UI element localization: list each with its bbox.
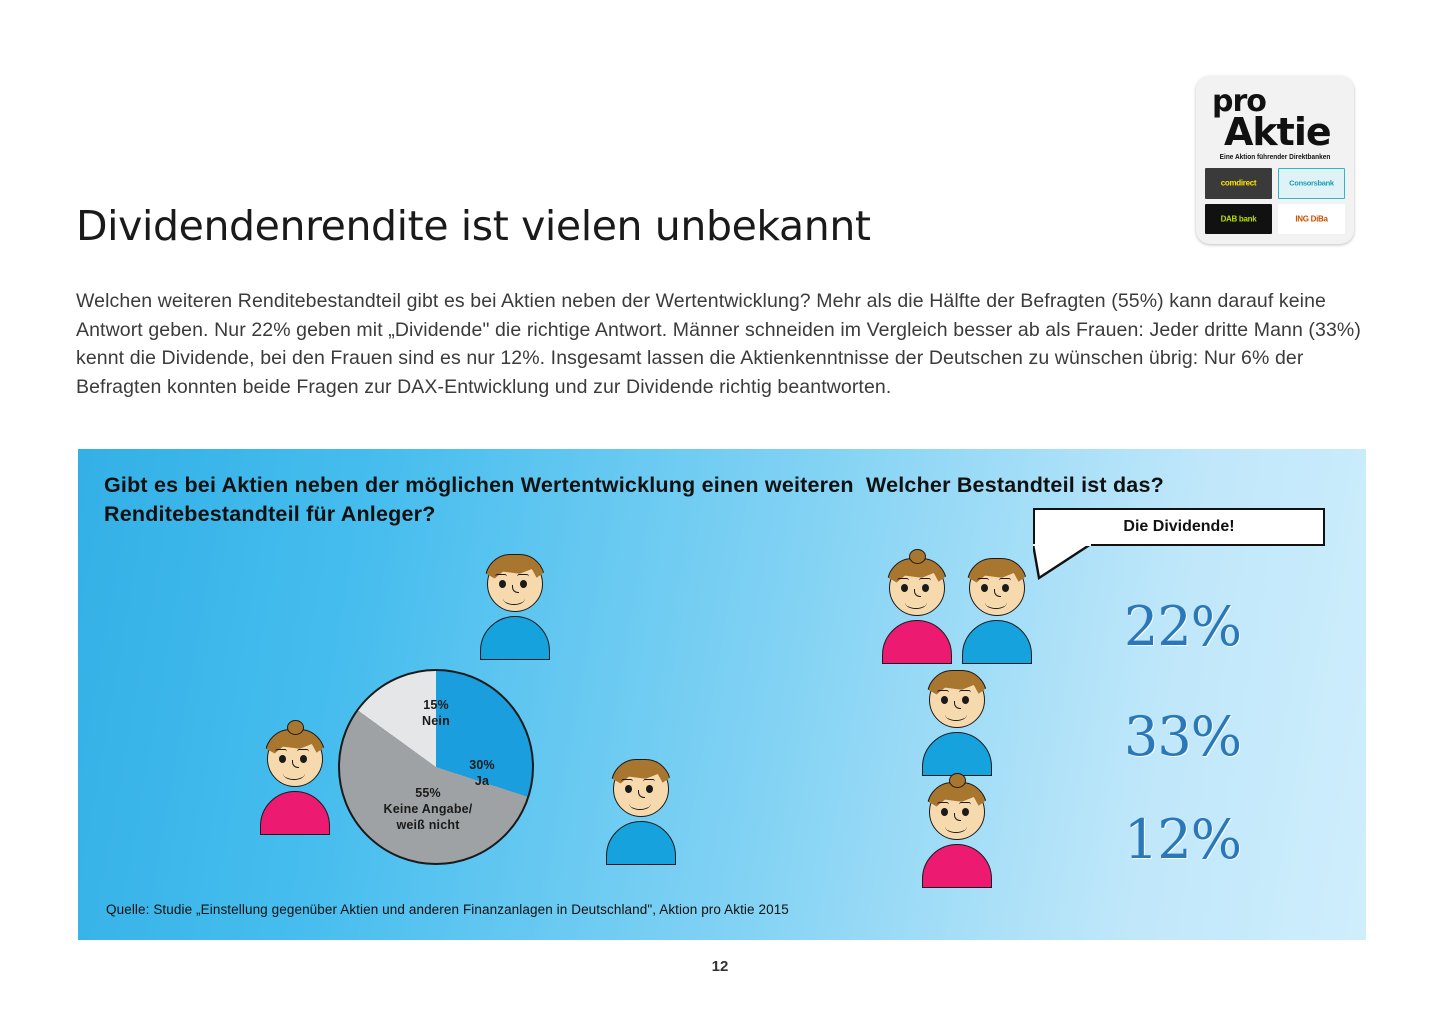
eyebrow-right [297, 749, 309, 754]
torso-shape [962, 620, 1032, 664]
pie-slice-value-keine-angabe: 55% [348, 785, 508, 801]
eyebrow-right [517, 574, 529, 579]
person-icon-male-row1 [958, 560, 1036, 666]
logo-tagline: Eine Aktion führender Direktbanken [1206, 153, 1344, 161]
partner-logo-dab-bank-label: DAB bank [1205, 214, 1272, 223]
stat-value-maenner: 33% [1124, 705, 1241, 768]
eye-right [922, 584, 929, 592]
stat-value-frauen: 12% [1124, 808, 1241, 871]
pie-slice-name-nein: Nein [386, 713, 486, 729]
mouth-shape [985, 596, 1007, 609]
eye-left [279, 755, 286, 763]
page-number: 12 [0, 958, 1440, 975]
eye-left [981, 584, 988, 592]
body-paragraph: Welchen weiteren Renditebestandteil gibt… [76, 287, 1372, 401]
eye-right [646, 785, 653, 793]
person-icon-female-row3 [918, 784, 996, 890]
partner-logo-dab-bank: DAB bank [1205, 204, 1272, 235]
eyebrow-left [977, 578, 989, 583]
partner-logo-ing-diba: ING DiBa [1278, 204, 1345, 235]
torso-shape [260, 791, 330, 835]
pie-slice-name-keine-angabe-1: Keine Angabe/ [348, 801, 508, 817]
eyebrow-right [959, 802, 971, 807]
person-icon-female-left [256, 731, 334, 837]
pie-slice-name-keine-angabe-2: weiß nicht [348, 817, 508, 833]
eyebrow-right [919, 578, 931, 583]
eye-left [499, 580, 506, 588]
eye-right [962, 808, 969, 816]
partner-logo-consorsbank-label: Consorsbank [1279, 179, 1344, 188]
eyebrow-left [897, 578, 909, 583]
eyebrow-left [937, 802, 949, 807]
person-icon-male-right [602, 761, 680, 867]
stat-value-gesamt: 22% [1124, 595, 1241, 658]
torso-shape [882, 620, 952, 664]
eyebrow-left [621, 779, 633, 784]
pie-slice-label-nein: 15% Nein [386, 697, 486, 729]
eye-right [300, 755, 307, 763]
mouth-shape [629, 797, 651, 810]
hair-bun-shape [287, 720, 304, 735]
logo-word-aktie: Aktie [1224, 114, 1331, 150]
chart-left-question: Gibt es bei Aktien neben der möglichen W… [104, 471, 864, 529]
person-icon-male-row2 [918, 672, 996, 778]
pie-slice-value-nein: 15% [386, 697, 486, 713]
person-icon-male-top [476, 556, 554, 662]
eyebrow-left [937, 690, 949, 695]
eye-left [901, 584, 908, 592]
speech-bubble-tail [1033, 544, 1097, 582]
eyebrow-left [275, 749, 287, 754]
eyebrow-right [643, 779, 655, 784]
torso-shape [480, 616, 550, 660]
eye-right [520, 580, 527, 588]
partner-logo-grid: comdirect Consorsbank DAB bank ING DiBa [1205, 168, 1345, 234]
hair-bun-shape [949, 773, 966, 788]
eye-left [941, 808, 948, 816]
eye-left [941, 696, 948, 704]
eye-left [625, 785, 632, 793]
pro-aktie-logo: pro Aktie Eine Aktion führender Direktba… [1196, 76, 1354, 244]
mouth-shape [905, 596, 927, 609]
mouth-shape [945, 708, 967, 721]
eye-right [1002, 584, 1009, 592]
eyebrow-right [999, 578, 1011, 583]
source-note: Quelle: Studie „Einstellung gegenüber Ak… [106, 902, 789, 917]
speech-bubble: Die Dividende! [1033, 508, 1325, 546]
eyebrow-left [495, 574, 507, 579]
torso-shape [922, 732, 992, 776]
eyebrow-right [959, 690, 971, 695]
pie-chart: 15% Nein 30% Ja 55% Keine Angabe/ weiß n… [338, 669, 534, 865]
mouth-shape [503, 592, 525, 605]
partner-logo-ing-diba-label: ING DiBa [1278, 214, 1345, 223]
mouth-shape [945, 820, 967, 833]
mouth-shape [283, 767, 305, 780]
hair-bun-shape [909, 549, 926, 564]
partner-logo-comdirect-label: comdirect [1205, 179, 1272, 188]
torso-shape [922, 844, 992, 888]
chart-right-question: Welcher Bestandteil ist das? [866, 471, 1336, 500]
torso-shape [606, 821, 676, 865]
partner-logo-consorsbank: Consorsbank [1278, 168, 1345, 199]
speech-bubble-text: Die Dividende! [1123, 518, 1234, 536]
partner-logo-comdirect: comdirect [1205, 168, 1272, 199]
page-title: Dividendenrendite ist vielen unbekannt [76, 203, 1076, 249]
pie-slice-value-ja: 30% [444, 757, 520, 773]
pie-slice-label-keine-angabe: 55% Keine Angabe/ weiß nicht [348, 785, 508, 833]
person-icon-female-row1 [878, 560, 956, 666]
eye-right [962, 696, 969, 704]
